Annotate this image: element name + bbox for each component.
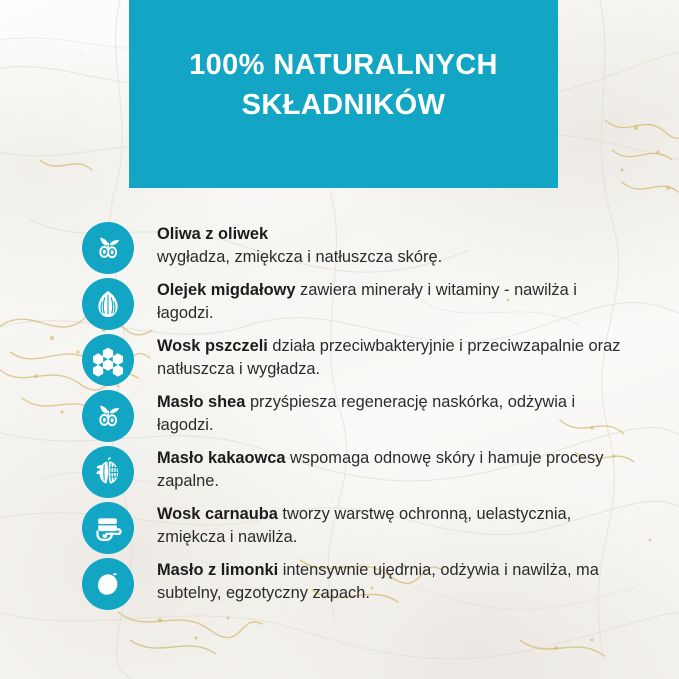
ingredient-text: Masło kakaowca wspomaga odnowę skóry i h… — [157, 446, 627, 494]
ingredient-text: Masło shea przyśpiesza regenerację naskó… — [157, 390, 627, 438]
ingredient-name: Masło z limonki — [157, 561, 278, 579]
ingredient-text: Olejek migdałowy zawiera minerały i wita… — [157, 278, 627, 326]
ingredient-item-almond-oil: Olejek migdałowy zawiera minerały i wita… — [0, 278, 679, 334]
almond-icon — [82, 278, 134, 330]
ingredient-name: Wosk carnauba — [157, 505, 278, 523]
honeycomb-icon — [82, 334, 134, 386]
header-banner: 100% NATURALNYCHSKŁADNIKÓW — [129, 0, 558, 188]
banner-title: 100% NATURALNYCHSKŁADNIKÓW — [189, 45, 498, 125]
lime-icon — [82, 558, 134, 610]
cocoa-pod-icon — [82, 446, 134, 498]
ingredient-text: Wosk carnauba tworzy warstwę ochronną, u… — [157, 502, 627, 550]
ingredient-name: Oliwa z oliwek — [157, 225, 268, 243]
ingredient-name: Wosk pszczeli — [157, 337, 268, 355]
olive-icon — [82, 222, 134, 274]
ingredient-item-lime-butter: Masło z limonki intensywnie ujędrnia, od… — [0, 558, 679, 614]
banner-title-line-2: SKŁADNIKÓW — [242, 89, 446, 121]
ingredient-item-olive: Oliwa z oliwekwygładza, zmiękcza i natłu… — [0, 222, 679, 278]
shea-nut-icon — [82, 390, 134, 442]
ingredient-name: Masło shea — [157, 393, 245, 411]
wax-jar-icon — [82, 502, 134, 554]
ingredient-text: Oliwa z oliwekwygładza, zmiękcza i natłu… — [157, 222, 442, 270]
ingredient-item-shea-butter: Masło shea przyśpiesza regenerację naskó… — [0, 390, 679, 446]
ingredient-item-carnauba-wax: Wosk carnauba tworzy warstwę ochronną, u… — [0, 502, 679, 558]
ingredient-item-cocoa-butter: Masło kakaowca wspomaga odnowę skóry i h… — [0, 446, 679, 502]
ingredient-item-beeswax: Wosk pszczeli działa przeciwbakteryjnie … — [0, 334, 679, 390]
ingredient-name: Olejek migdałowy — [157, 281, 295, 299]
ingredient-text: Masło z limonki intensywnie ujędrnia, od… — [157, 558, 627, 606]
ingredient-list: Oliwa z oliwekwygładza, zmiękcza i natłu… — [0, 222, 679, 614]
ingredient-name: Masło kakaowca — [157, 449, 285, 467]
ingredients-infographic: 100% NATURALNYCHSKŁADNIKÓW — [0, 0, 679, 679]
ingredient-text: Wosk pszczeli działa przeciwbakteryjnie … — [157, 334, 627, 382]
banner-title-line-1: 100% NATURALNYCH — [189, 49, 498, 81]
ingredient-description: wygładza, zmiękcza i natłuszcza skórę. — [157, 248, 442, 266]
